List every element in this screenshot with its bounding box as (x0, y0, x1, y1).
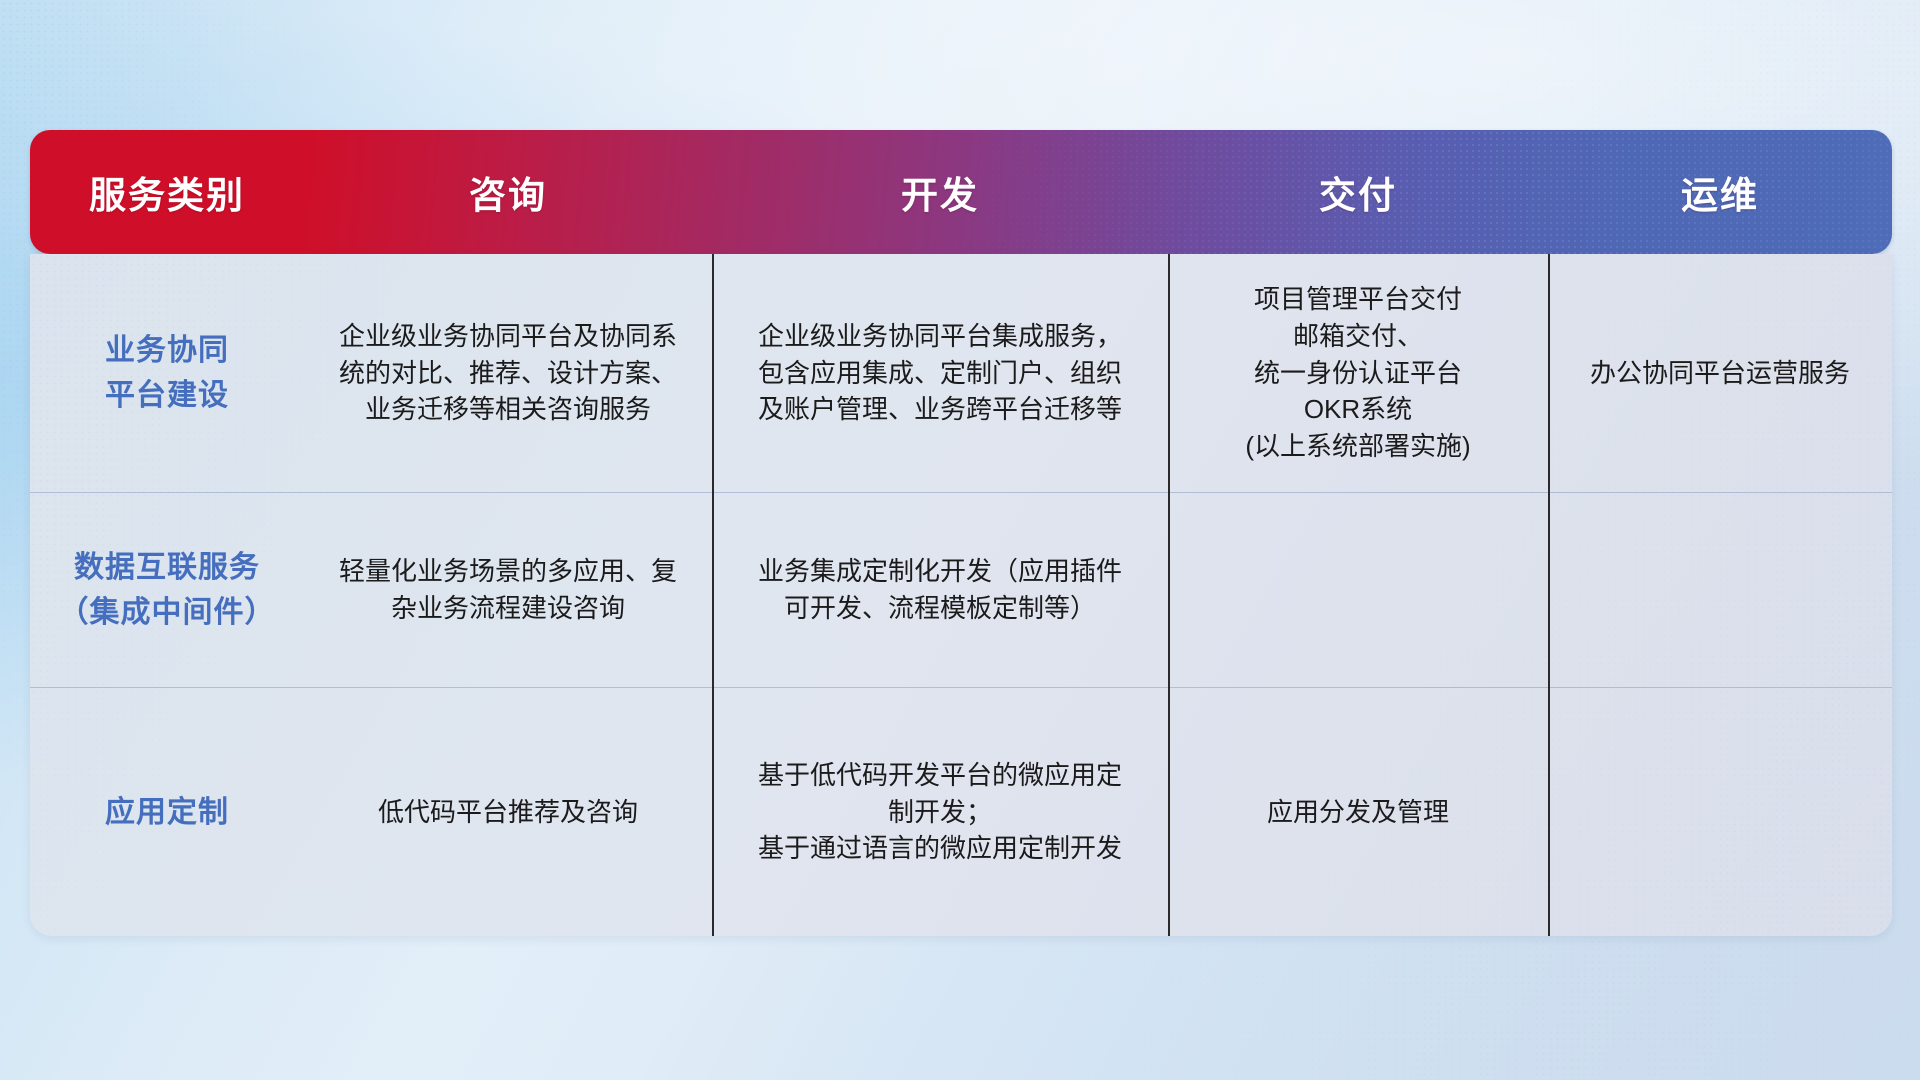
cell-delivery: 项目管理平台交付 邮箱交付、 统一身份认证平台 OKR系统 (以上系统部署实施) (1168, 254, 1548, 492)
cell-delivery: 应用分发及管理 (1168, 688, 1548, 936)
column-header-operations: 运维 (1548, 130, 1892, 254)
column-header-delivery: 交付 (1168, 130, 1548, 254)
cell-development: 企业级业务协同平台集成服务， 包含应用集成、定制门户、组织 及账户管理、业务跨平… (712, 254, 1168, 492)
table-row: 数据互联服务 （集成中间件） 轻量化业务场景的多应用、复 杂业务流程建设咨询 业… (30, 492, 1892, 687)
row-category-label: 数据互联服务 （集成中间件） (30, 493, 304, 687)
cell-delivery (1168, 493, 1548, 687)
row-category-label: 业务协同 平台建设 (30, 254, 304, 492)
service-matrix-table: 服务类别 咨询 开发 交付 运维 业务协同 平台建设 企业级业务协同平台及协同系… (30, 130, 1892, 936)
table-row: 应用定制 低代码平台推荐及咨询 基于低代码开发平台的微应用定 制开发； 基于通过… (30, 687, 1892, 936)
table-row: 业务协同 平台建设 企业级业务协同平台及协同系 统的对比、推荐、设计方案、 业务… (30, 254, 1892, 492)
cell-operations (1548, 688, 1892, 936)
column-divider-2 (1168, 254, 1170, 936)
cell-development: 基于低代码开发平台的微应用定 制开发； 基于通过语言的微应用定制开发 (712, 688, 1168, 936)
cell-consulting: 低代码平台推荐及咨询 (304, 688, 712, 936)
table-body: 业务协同 平台建设 企业级业务协同平台及协同系 统的对比、推荐、设计方案、 业务… (30, 254, 1892, 936)
column-header-development: 开发 (712, 130, 1168, 254)
column-divider-3 (1548, 254, 1550, 936)
cell-consulting: 轻量化业务场景的多应用、复 杂业务流程建设咨询 (304, 493, 712, 687)
row-category-label: 应用定制 (30, 688, 304, 936)
cell-operations (1548, 493, 1892, 687)
column-divider-1 (712, 254, 714, 936)
cell-consulting: 企业级业务协同平台及协同系 统的对比、推荐、设计方案、 业务迁移等相关咨询服务 (304, 254, 712, 492)
column-header-category: 服务类别 (30, 130, 304, 254)
column-header-consulting: 咨询 (304, 130, 712, 254)
cell-operations: 办公协同平台运营服务 (1548, 254, 1892, 492)
table-header-row: 服务类别 咨询 开发 交付 运维 (30, 130, 1892, 254)
cell-development: 业务集成定制化开发（应用插件 可开发、流程模板定制等） (712, 493, 1168, 687)
